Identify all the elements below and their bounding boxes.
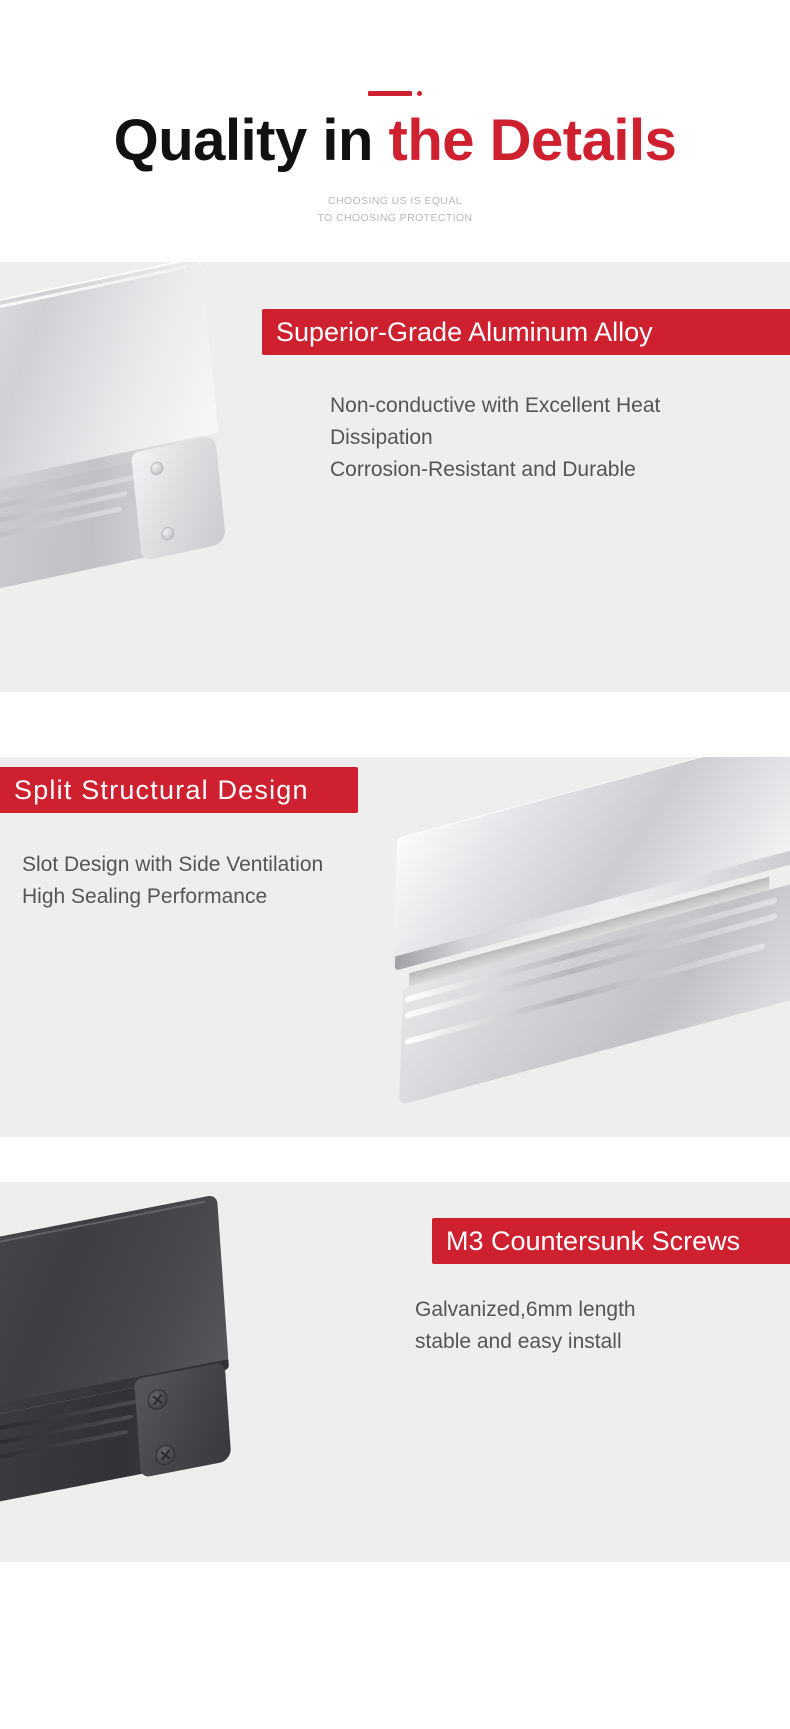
feature-section-split-design: Split Structural Design Slot Design with… [0, 757, 790, 1137]
page-subtitle-line-1: CHOOSING US IS EQUAL [0, 193, 790, 210]
enclosure-end-cap [131, 435, 226, 561]
section-divider [0, 692, 790, 757]
header-accent-rule [0, 88, 790, 98]
feature-description-split-design: Slot Design with Side Ventilation High S… [22, 849, 323, 913]
feature-description-aluminum-alloy: Non-conductive with Excellent Heat Dissi… [330, 390, 660, 486]
feature-description-line: stable and easy install [415, 1326, 636, 1358]
page-title-accent: the Details [389, 108, 677, 173]
feature-description-line: Dissipation [330, 422, 660, 454]
page-title: Quality in the Details [0, 104, 790, 178]
accent-dash-icon [368, 91, 412, 96]
product-image-silver-enclosure [0, 262, 231, 634]
feature-banner-aluminum-alloy: Superior-Grade Aluminum Alloy [262, 309, 790, 355]
feature-description-line: Non-conductive with Excellent Heat [330, 390, 660, 422]
enclosure-end-cap [134, 1362, 231, 1478]
product-image-split-enclosure [395, 785, 790, 1045]
page-title-primary: Quality in [114, 108, 389, 173]
page-subtitle-line-2: TO CHOOSING PROTECTION [0, 210, 790, 227]
feature-banner-countersunk-screws: M3 Countersunk Screws [432, 1218, 790, 1264]
feature-description-line: Galvanized,6mm length [415, 1294, 636, 1326]
page-header: Quality in the Details CHOOSING US IS EQ… [0, 0, 790, 262]
feature-description-countersunk-screws: Galvanized,6mm length stable and easy in… [415, 1294, 636, 1358]
feature-description-line: Slot Design with Side Ventilation [22, 849, 323, 881]
feature-section-countersunk-screws: M3 Countersunk Screws Galvanized,6mm len… [0, 1182, 790, 1562]
feature-section-aluminum-alloy: Superior-Grade Aluminum Alloy Non-conduc… [0, 262, 790, 692]
feature-banner-split-design: Split Structural Design [0, 767, 358, 813]
product-image-black-enclosure [0, 1194, 235, 1539]
page-footer-space [0, 1562, 790, 1729]
page-subtitle: CHOOSING US IS EQUAL TO CHOOSING PROTECT… [0, 193, 790, 227]
feature-description-line: High Sealing Performance [22, 881, 323, 913]
accent-dot-icon [417, 91, 422, 96]
section-divider [0, 1137, 790, 1182]
feature-description-line: Corrosion-Resistant and Durable [330, 454, 660, 486]
